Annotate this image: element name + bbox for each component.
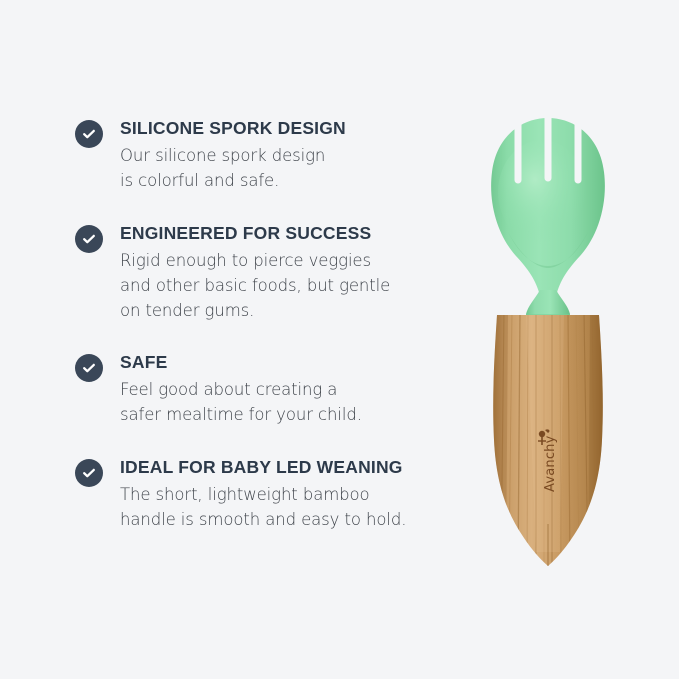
feature-description-line: Feel good about creating a — [120, 377, 475, 402]
product-infographic: SILICONE SPORK DESIGN Our silicone spork… — [0, 0, 679, 679]
feature-title: IDEAL FOR BABY LED WEANING — [120, 457, 475, 479]
product-image-spork: Avanchy — [468, 100, 628, 580]
feature-item-engineered-for-success: ENGINEERED FOR SUCCESS Rigid enough to p… — [75, 223, 475, 323]
feature-description-line: on tender gums. — [120, 298, 475, 323]
feature-item-ideal-for-baby-led-weaning: IDEAL FOR BABY LED WEANING The short, li… — [75, 457, 475, 532]
feature-description-line: safer mealtime for your child. — [120, 402, 475, 427]
check-circle-icon — [75, 120, 103, 148]
feature-description: Rigid enough to pierce veggies and other… — [120, 248, 475, 323]
check-circle-icon — [75, 459, 103, 487]
check-circle-icon — [75, 225, 103, 253]
brand-logo-text: Avanchy — [543, 435, 558, 492]
feature-description-line: The short, lightweight bamboo — [120, 482, 475, 507]
feature-item-silicone-spork-design: SILICONE SPORK DESIGN Our silicone spork… — [75, 118, 475, 193]
feature-description-line: is colorful and safe. — [120, 168, 475, 193]
feature-title: SAFE — [120, 352, 475, 374]
feature-description-line: and other basic foods, but gentle — [120, 273, 475, 298]
feature-description-line: Rigid enough to pierce veggies — [120, 248, 475, 273]
check-circle-icon — [75, 354, 103, 382]
feature-description-line: handle is smooth and easy to hold. — [120, 507, 475, 532]
feature-title: SILICONE SPORK DESIGN — [120, 118, 475, 140]
feature-description: The short, lightweight bamboo handle is … — [120, 482, 475, 532]
feature-item-safe: SAFE Feel good about creating a safer me… — [75, 352, 475, 427]
feature-title: ENGINEERED FOR SUCCESS — [120, 223, 475, 245]
feature-description: Feel good about creating a safer mealtim… — [120, 377, 475, 427]
feature-description: Our silicone spork design is colorful an… — [120, 143, 475, 193]
feature-list: SILICONE SPORK DESIGN Our silicone spork… — [75, 118, 475, 532]
feature-description-line: Our silicone spork design — [120, 143, 475, 168]
